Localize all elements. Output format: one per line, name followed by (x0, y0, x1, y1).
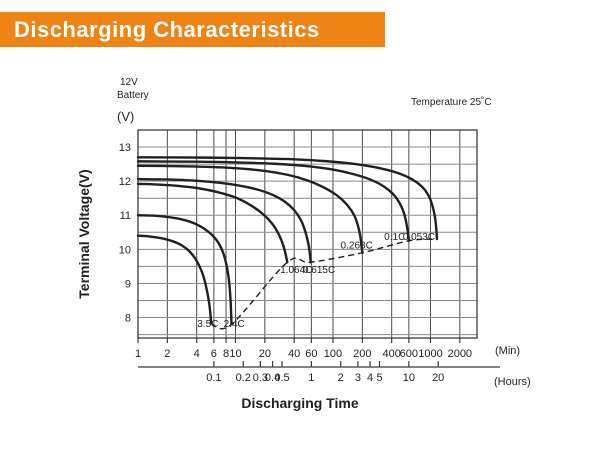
battery-label-voltage: 12V (120, 77, 138, 88)
discharge-characteristics-chart: 1312111098 12468102040601002004006001000… (0, 47, 600, 451)
y-axis-unit: (V) (117, 109, 134, 124)
x-tick-label-minutes: 1000 (418, 348, 442, 360)
y-axis-tick-labels: 1312111098 (119, 142, 131, 324)
battery-label-type: Battery (117, 90, 149, 101)
x-tick-label-hours: 10 (403, 372, 415, 384)
x-tick-label-hours: 0.2 (236, 372, 251, 384)
x-tick-label-hours: 20 (432, 372, 444, 384)
y-tick-label: 11 (120, 210, 131, 222)
x-tick-label-hours: 1 (308, 372, 314, 384)
x-axis-minutes: 124681020406010020040060010002000 (135, 338, 472, 360)
curve-label-0.615C: 0.615C (303, 265, 335, 276)
temperature-note: Temperature 25˚C (411, 96, 492, 108)
x-tick-label-minutes: 400 (383, 348, 401, 360)
chart-canvas: 1312111098 12468102040601002004006001000… (0, 47, 600, 451)
x-tick-label-minutes: 1 (135, 348, 141, 360)
x-tick-label-minutes: 20 (259, 348, 271, 360)
x-tick-label-hours: 0.5 (274, 372, 289, 384)
x-tick-label-minutes: 100 (324, 348, 342, 360)
x-tick-label-hours: 4 (367, 372, 373, 384)
y-tick-label: 13 (119, 142, 131, 154)
x-tick-label-minutes: 2000 (448, 348, 472, 360)
x-tick-label-minutes: 600 (400, 348, 418, 360)
x-tick-label-minutes: 60 (305, 348, 317, 360)
x-tick-label-minutes: 200 (353, 348, 371, 360)
x-tick-label-minutes: 6 (211, 348, 217, 360)
y-tick-label: 10 (119, 244, 131, 256)
x-axis-hours: 0.10.20.30.40.5123451020 (206, 361, 444, 384)
x-tick-label-hours: 2 (338, 372, 344, 384)
x-tick-label-minutes: 2 (164, 348, 170, 360)
x-tick-label-minutes: 4 (194, 348, 200, 360)
curve-label-2.4C: 2.4C (224, 319, 245, 330)
x-axis-unit-hours: (Hours) (494, 376, 531, 388)
header-bar: Discharging Characteristics (0, 12, 385, 47)
page-title: Discharging Characteristics (14, 17, 320, 43)
x-tick-label-minutes: 40 (288, 348, 300, 360)
y-tick-label: 9 (125, 278, 131, 290)
curve-label-0.053C: 0.053C (403, 232, 435, 243)
curve-label-3.5C: 3.5C (197, 319, 218, 330)
y-tick-label: 12 (119, 176, 131, 188)
x-tick-label-hours: 0.1 (206, 372, 221, 384)
x-tick-label-hours: 5 (376, 372, 382, 384)
y-axis-title: Terminal Voltage(V) (76, 169, 92, 298)
x-axis-title: Discharging Time (241, 395, 358, 411)
x-tick-label-hours: 3 (355, 372, 361, 384)
x-tick-label-minutes: 8 (223, 348, 229, 360)
x-tick-label-minutes: 10 (229, 348, 241, 360)
curve-label-0.263C: 0.263C (341, 241, 373, 252)
x-axis-unit-minutes: (Min) (495, 345, 520, 357)
y-tick-label: 8 (125, 313, 131, 325)
